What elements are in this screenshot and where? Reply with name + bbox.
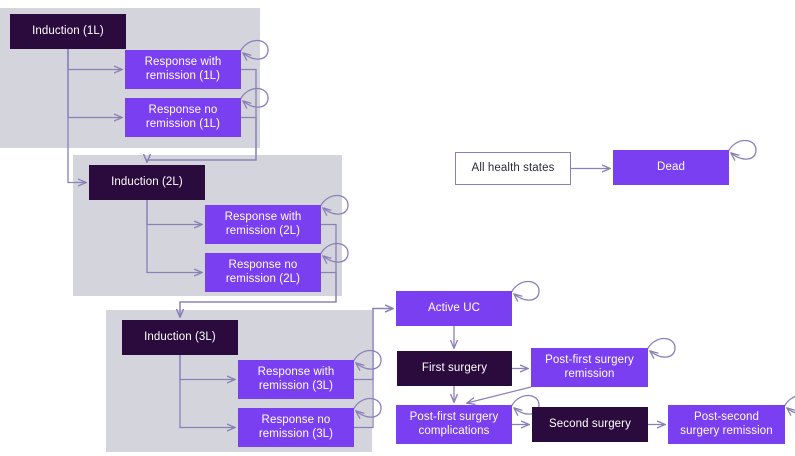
node-label-line2: remission (3L) [258, 380, 335, 394]
self-loop-post-second-remission [784, 396, 795, 415]
node-label-line1: Post-first surgery [545, 354, 634, 368]
node-induction-2l[interactable]: Induction (2L) [89, 165, 205, 200]
node-label-line2: remission (3L) [259, 428, 333, 442]
self-loop-dead [728, 141, 756, 160]
node-label: All health states [472, 162, 555, 176]
node-label: Induction (2L) [111, 176, 183, 190]
node-label-line2: surgery remission [680, 425, 772, 439]
node-active-uc[interactable]: Active UC [396, 291, 512, 326]
state-transition-diagram: Induction (1L) Response with remission (… [0, 0, 795, 456]
node-label-line2: remission (1L) [146, 118, 220, 132]
node-label: First surgery [422, 362, 487, 376]
node-post-first-surgery-remission[interactable]: Post-first surgery remission [531, 348, 648, 387]
node-induction-3l[interactable]: Induction (3L) [122, 320, 238, 355]
node-label-line1: Response with [258, 366, 335, 380]
node-response-with-remission-2l[interactable]: Response with remission (2L) [205, 205, 321, 244]
node-all-health-states[interactable]: All health states [455, 152, 571, 185]
node-first-surgery[interactable]: First surgery [397, 351, 512, 386]
node-response-with-remission-3l[interactable]: Response with remission (3L) [238, 360, 354, 399]
node-response-no-remission-3l[interactable]: Response no remission (3L) [238, 408, 354, 447]
node-label-line2: remission (2L) [225, 225, 302, 239]
node-label-line2: complications [410, 425, 499, 439]
node-label-line1: Response no [146, 104, 220, 118]
node-label: Induction (3L) [144, 331, 216, 345]
node-response-no-remission-1l[interactable]: Response no remission (1L) [125, 98, 241, 137]
node-label: Induction (1L) [32, 25, 104, 39]
self-loop-active-uc [511, 282, 539, 301]
node-post-first-surgery-complications[interactable]: Post-first surgery complications [396, 405, 512, 444]
node-induction-1l[interactable]: Induction (1L) [10, 14, 126, 49]
self-loop-post-first-remission [647, 339, 675, 358]
node-label-line1: Response no [226, 259, 300, 273]
node-label-line1: Response with [225, 211, 302, 225]
node-response-with-remission-1l[interactable]: Response with remission (1L) [125, 50, 241, 89]
node-label-line1: Post-second [680, 411, 772, 425]
wire-post-first-remission-to-complications [467, 387, 531, 403]
node-label-line1: Response with [145, 56, 222, 70]
node-label: Second surgery [549, 418, 631, 432]
node-response-no-remission-2l[interactable]: Response no remission (2L) [205, 253, 321, 292]
node-label-line2: remission (1L) [145, 70, 222, 84]
node-label: Dead [657, 161, 685, 175]
node-label: Active UC [428, 302, 480, 316]
node-dead[interactable]: Dead [613, 150, 729, 185]
node-label-line1: Response no [259, 414, 333, 428]
node-post-second-surgery-remission[interactable]: Post-second surgery remission [668, 405, 785, 444]
node-label-line1: Post-first surgery [410, 411, 499, 425]
node-label-line2: remission [545, 368, 634, 382]
node-label-line2: remission (2L) [226, 273, 300, 287]
node-second-surgery[interactable]: Second surgery [532, 407, 648, 442]
